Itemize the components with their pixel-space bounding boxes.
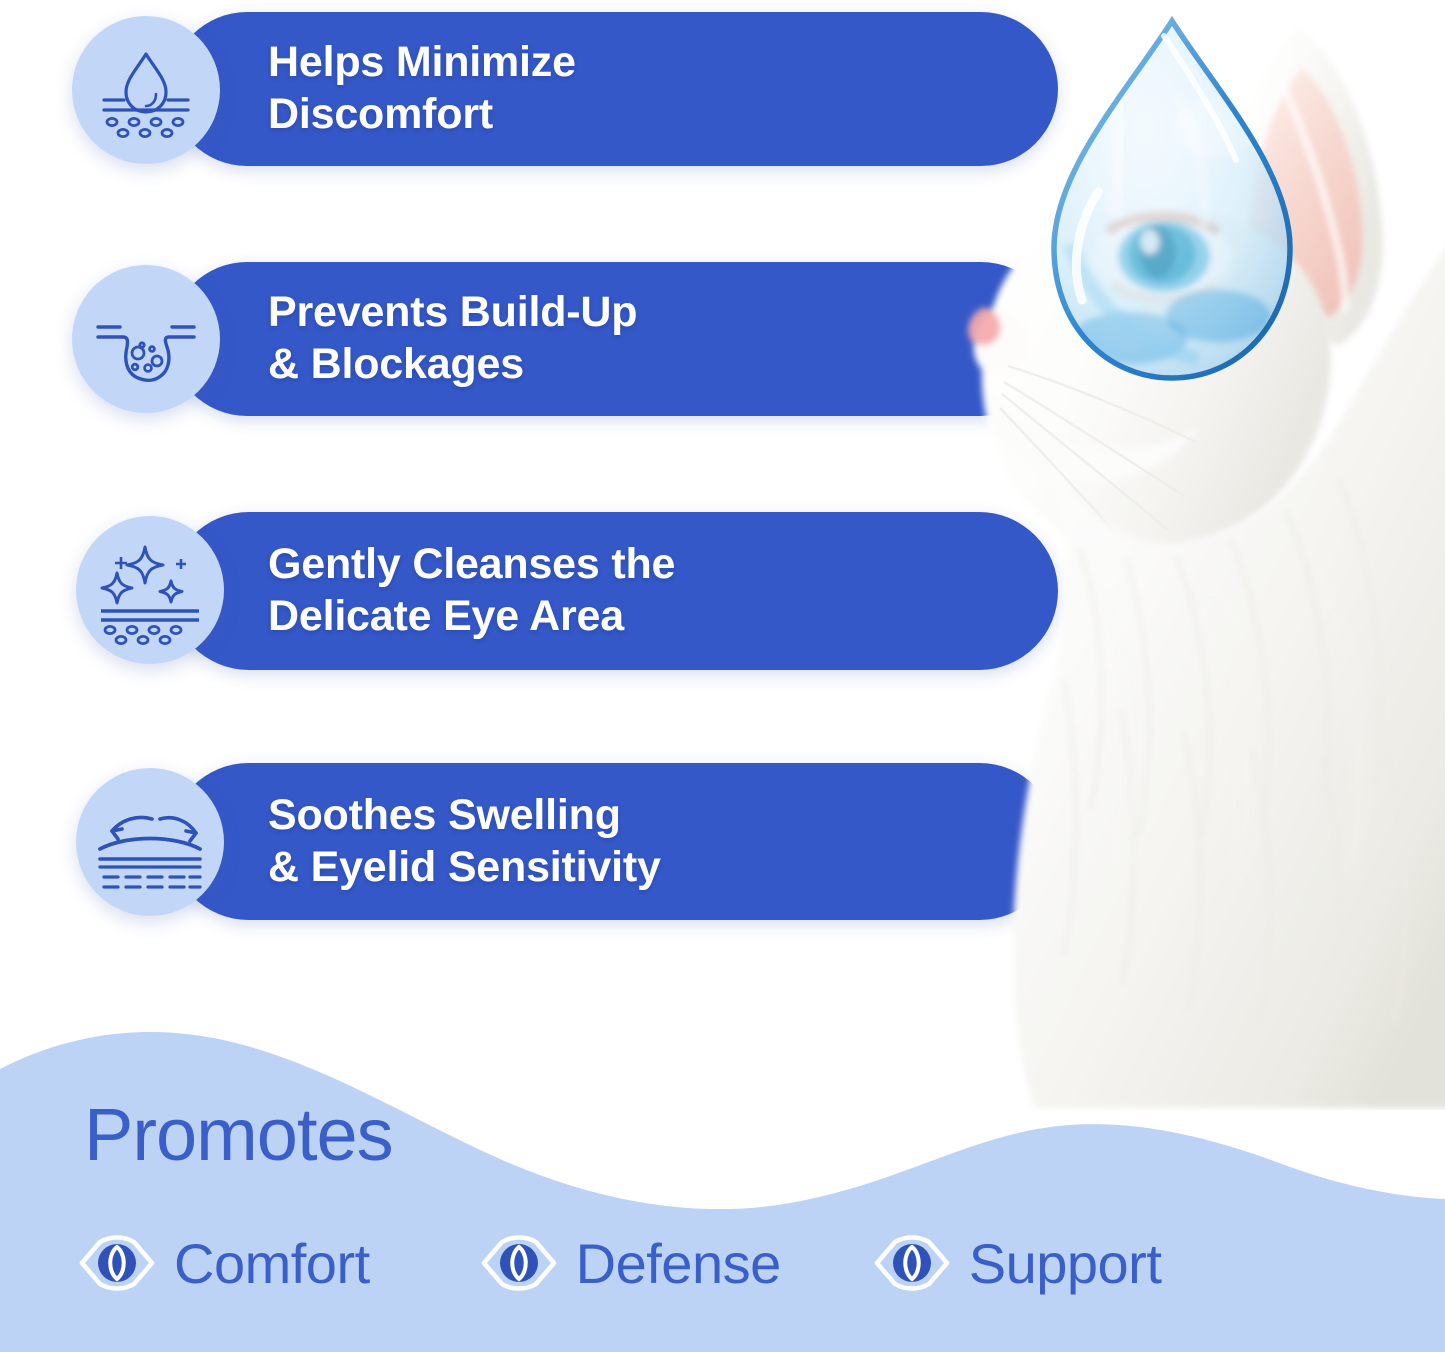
- eye-icon: [78, 1232, 156, 1294]
- feature-pill-gently-cleanses[interactable]: Gently Cleanses theDelicate Eye Area: [170, 512, 1058, 670]
- promote-item-comfort: Comfort: [78, 1231, 370, 1296]
- promote-item-label: Defense: [576, 1231, 781, 1296]
- feature-pill-label: Soothes Swelling& Eyelid Sensitivity: [268, 790, 661, 893]
- infographic-canvas: Helps MinimizeDiscomfort Prevents: [0, 0, 1445, 1352]
- promotes-heading: Promotes: [84, 1098, 393, 1172]
- feature-pill-prevents-buildup[interactable]: Prevents Build-Up& Blockages: [170, 262, 1058, 416]
- droplet-on-skin-layers-icon: [72, 16, 220, 164]
- feature-pill-label: Helps MinimizeDiscomfort: [268, 37, 576, 140]
- promote-item-support: Support: [873, 1231, 1162, 1296]
- water-droplet: [1042, 6, 1302, 386]
- feature-pill-minimize-discomfort[interactable]: Helps MinimizeDiscomfort: [170, 12, 1058, 166]
- feature-pill-label: Gently Cleanses theDelicate Eye Area: [268, 539, 675, 642]
- hero-cat-with-water-droplet: [930, 0, 1445, 1110]
- feature-pill-soothes-swelling[interactable]: Soothes Swelling& Eyelid Sensitivity: [170, 763, 1058, 920]
- eye-icon: [480, 1232, 558, 1294]
- feature-pill-label: Prevents Build-Up& Blockages: [268, 287, 637, 390]
- clogged-pore-icon: [72, 265, 220, 413]
- promote-item-label: Comfort: [174, 1231, 370, 1296]
- promote-item-defense: Defense: [480, 1231, 781, 1296]
- promotes-items-row: Comfort Defense Support: [78, 1218, 1368, 1308]
- promote-item-label: Support: [969, 1231, 1162, 1296]
- soothing-arrows-skin-icon: [76, 768, 224, 916]
- eye-icon: [873, 1232, 951, 1294]
- sparkle-clean-skin-icon: [76, 516, 224, 664]
